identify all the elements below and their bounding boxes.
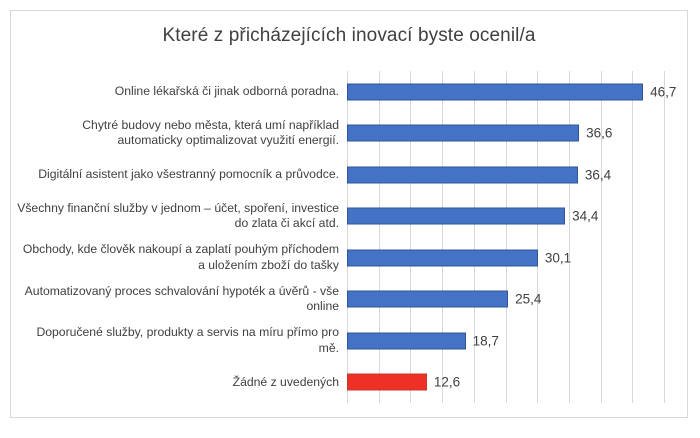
bar-value-label: 18,7 — [473, 333, 499, 348]
bar-value-label: 25,4 — [515, 292, 541, 307]
category-label: Online lékařská či jinak odborná poradna… — [115, 84, 345, 100]
bar-row: 36,4 — [347, 154, 685, 196]
bar-value-label: 36,6 — [586, 126, 612, 141]
category-label-row: Online lékařská či jinak odborná poradna… — [17, 71, 345, 113]
category-label: Chytré budovy nebo města, která umí např… — [17, 118, 345, 149]
bar-value-label: 46,7 — [650, 84, 676, 99]
category-label-row: Chytré budovy nebo města, která umí např… — [17, 113, 345, 155]
category-label-row: Obchody, kde člověk nakoupí a zaplatí po… — [17, 237, 345, 279]
category-axis-labels: Online lékařská či jinak odborná poradna… — [17, 71, 345, 403]
category-label: Obchody, kde člověk nakoupí a zaplatí po… — [17, 242, 345, 273]
category-label: Digitální asistent jako všestranný pomoc… — [38, 167, 345, 183]
category-label-row: Žádné z uvedených — [17, 362, 345, 404]
bar[interactable] — [347, 374, 427, 391]
bar[interactable] — [347, 249, 538, 266]
bar-value-label: 34,4 — [572, 209, 598, 224]
category-label: Žádné z uvedených — [233, 375, 345, 391]
bar[interactable] — [347, 208, 565, 225]
bar-value-label: 36,4 — [585, 167, 611, 182]
category-label-row: Doporučené služby, produkty a servis na … — [17, 320, 345, 362]
bar-row: 30,1 — [347, 237, 685, 279]
plot-area: 46,736,636,434,430,125,418,712,6 — [347, 71, 685, 403]
bar-value-label: 12,6 — [434, 375, 460, 390]
chart-title: Které z přicházejících inovací byste oce… — [11, 25, 687, 47]
category-label-row: Automatizovaný proces schvalování hypoté… — [17, 279, 345, 321]
bar-row: 34,4 — [347, 196, 685, 238]
category-label-row: Digitální asistent jako všestranný pomoc… — [17, 154, 345, 196]
bar[interactable] — [347, 166, 578, 183]
category-label-row: Všechny finanční služby v jednom – účet,… — [17, 196, 345, 238]
bar-row: 46,7 — [347, 71, 685, 113]
bar-row: 12,6 — [347, 362, 685, 404]
bar-row: 18,7 — [347, 320, 685, 362]
category-label: Automatizovaný proces schvalování hypoté… — [17, 284, 345, 315]
bar[interactable] — [347, 332, 466, 349]
category-label: Doporučené služby, produkty a servis na … — [17, 325, 345, 356]
bar-row: 25,4 — [347, 279, 685, 321]
bar[interactable] — [347, 291, 508, 308]
bars-layer: 46,736,636,434,430,125,418,712,6 — [347, 71, 685, 403]
bar-value-label: 30,1 — [545, 250, 571, 265]
bar-row: 36,6 — [347, 113, 685, 155]
chart-container: Které z přicházejících inovací byste oce… — [10, 10, 688, 418]
bar[interactable] — [347, 125, 579, 142]
bar[interactable] — [347, 83, 643, 100]
category-label: Všechny finanční služby v jednom – účet,… — [17, 201, 345, 232]
